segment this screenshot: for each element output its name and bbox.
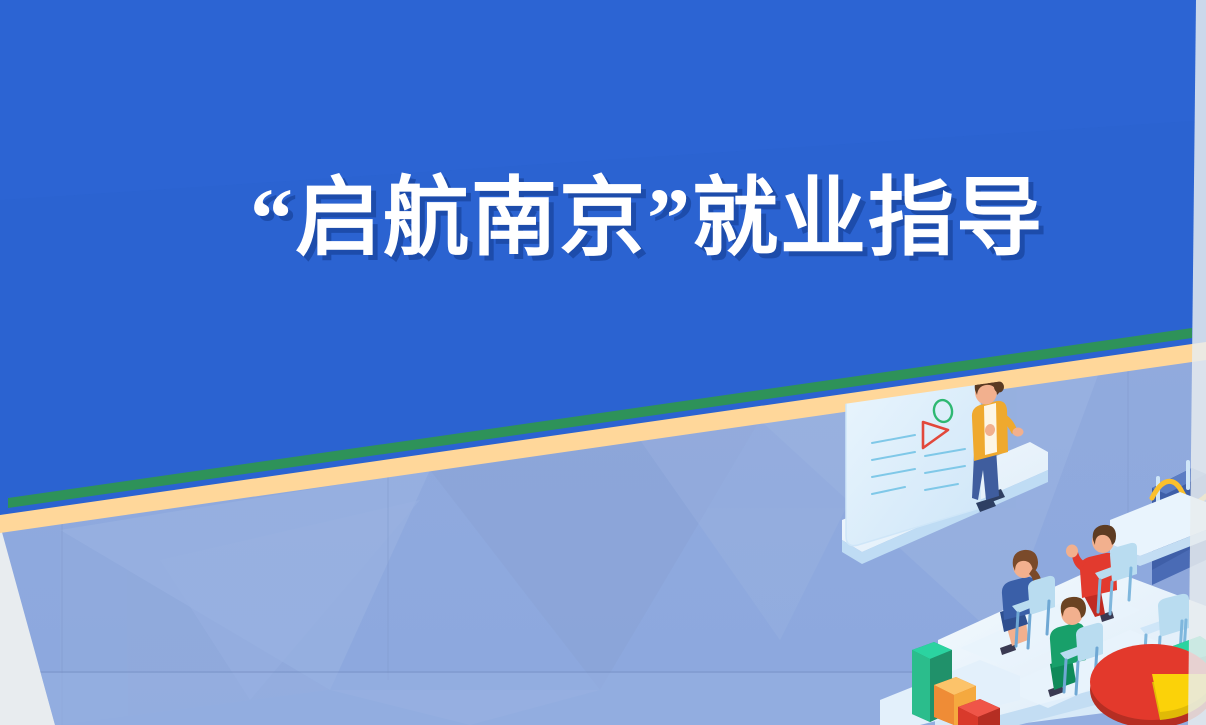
slide-artwork (0, 0, 1206, 725)
slide-canvas: “启航南京”就业指导 (0, 0, 1206, 725)
